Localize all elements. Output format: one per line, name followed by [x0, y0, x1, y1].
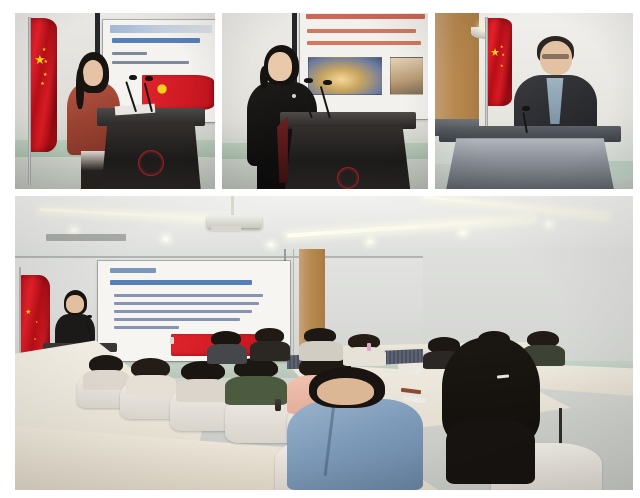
attendee [207, 331, 247, 363]
room-sign [46, 234, 126, 241]
institution-seal [337, 167, 359, 189]
slide-title [110, 280, 252, 285]
panel-conference-room-wide-shot[interactable]: ★ ★ ★ [15, 196, 633, 490]
attendee-denim-jacket [287, 367, 423, 490]
head [317, 378, 374, 405]
microphone-icon [323, 80, 332, 85]
lapel-pin [292, 94, 296, 98]
microphone-icon [87, 315, 92, 318]
slide-body-line [307, 29, 416, 33]
torso [250, 341, 290, 360]
attendee-green-coat [225, 358, 287, 405]
projection-screen [300, 13, 428, 119]
projector-lens [211, 226, 241, 232]
head [66, 295, 84, 313]
slide-header [110, 268, 156, 273]
flag-pole [28, 17, 31, 186]
flag-pole [485, 17, 488, 140]
microphone-icon [304, 78, 313, 83]
slide-title [306, 14, 426, 19]
water-bottle[interactable] [170, 337, 174, 344]
slide-image-portrait [390, 57, 423, 94]
attendee [343, 334, 386, 366]
attendee [176, 361, 232, 402]
torso [446, 419, 535, 484]
slide-image-spacecraft [308, 57, 381, 94]
attendee [83, 355, 129, 390]
panel-speaker-man-dark-jacket[interactable]: ★ ★ ★ ★ [435, 13, 633, 189]
thermos-bottle[interactable] [275, 399, 281, 411]
slide-header-band [110, 25, 212, 33]
lectern-top [280, 112, 416, 129]
head [83, 60, 103, 86]
attendee-long-hair [435, 337, 546, 484]
lectern[interactable] [439, 126, 621, 189]
microphone-icon [129, 75, 137, 80]
water-bottle[interactable] [367, 343, 371, 351]
lectern[interactable] [280, 112, 416, 189]
lectern-body [446, 138, 614, 189]
torso [207, 344, 247, 363]
photo-collage: ★ ★ ★ ★ ★ [0, 0, 640, 498]
chinese-national-flag: ★ ★ ★ ★ ★ [29, 18, 57, 152]
projector-mount [231, 196, 234, 217]
hair-strand [76, 68, 84, 109]
slide-body-line [307, 41, 421, 45]
lectern[interactable] [97, 108, 205, 189]
glasses [542, 54, 569, 59]
slide-body-line [114, 302, 260, 306]
head [268, 52, 292, 81]
panel-speaker-woman-red-coat[interactable]: ★ ★ ★ ★ ★ [15, 13, 215, 189]
partition-seam [293, 249, 294, 355]
attendee [250, 328, 290, 360]
hammer-sickle-emblem [153, 81, 172, 96]
slide-body-line [114, 318, 240, 322]
torso [126, 375, 175, 396]
torso-denim [287, 399, 423, 490]
institution-seal [138, 150, 164, 176]
torso [176, 379, 232, 402]
attendee [126, 358, 175, 396]
panel-speaker-woman-black-outfit[interactable] [222, 13, 428, 189]
slide-body-line [114, 326, 179, 330]
projector-icon[interactable] [207, 215, 263, 228]
slide-body-line [114, 294, 263, 298]
torso [299, 341, 342, 360]
slide-body-line [114, 310, 252, 314]
torso [343, 347, 386, 366]
slide-title [112, 38, 200, 43]
attendee [299, 328, 342, 360]
chinese-national-flag: ★ ★ ★ ★ [486, 18, 512, 106]
